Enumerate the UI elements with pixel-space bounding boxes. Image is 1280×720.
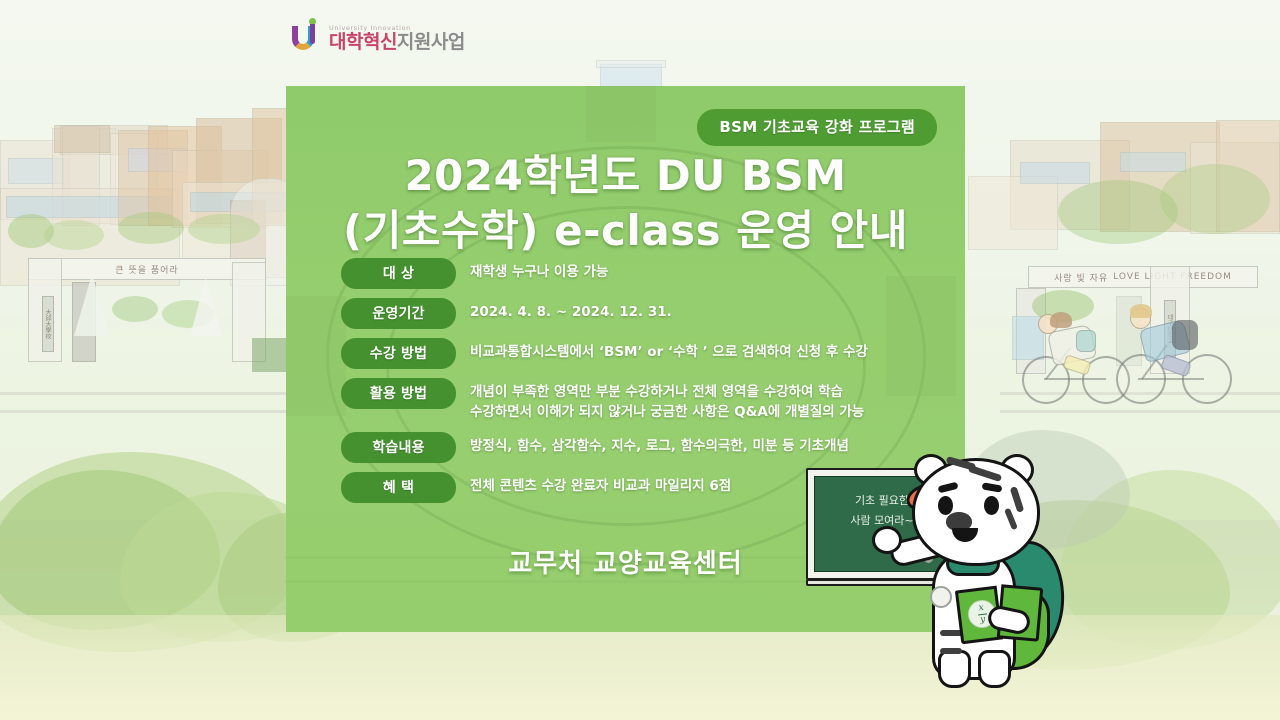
mascot-leg-right	[978, 650, 1011, 688]
info-row-label: 운영기간	[341, 298, 456, 329]
rider-backpack	[1076, 330, 1096, 352]
uj-monogram-icon	[292, 18, 322, 52]
rider-backpack	[1172, 320, 1198, 350]
logo-korean-part2: 지원사업	[397, 31, 465, 53]
building	[968, 176, 1058, 250]
road-stripe	[0, 410, 290, 413]
mascot-eye-right	[984, 496, 999, 515]
right-gate-text-kr: 사랑 빛 자유	[1054, 271, 1108, 284]
info-row-value: 비교과통합시스템에서 ‘BSM’ or ‘수학 ’ 으로 검색하여 신청 후 수…	[470, 338, 868, 362]
left-gate-beam: 큰 뜻을 품어라	[28, 258, 266, 280]
white-tiger-mascot: x y	[900, 440, 1130, 705]
info-row-value-line: 개념이 부족한 영역만 부분 수강하거나 전체 영역을 수강하여 학습	[470, 382, 864, 402]
info-row: 활용 방법 개념이 부족한 영역만 부분 수강하거나 전체 영역을 수강하여 학…	[341, 378, 955, 423]
fraction-denominator: y	[980, 614, 986, 625]
rider-hair	[1130, 304, 1152, 318]
ghost-building	[586, 86, 656, 142]
fraction-xy: x y	[976, 603, 987, 625]
building-window-band	[1120, 152, 1186, 172]
page-title: 2024학년도 DU BSM (기초수학) e-class 운영 안내	[286, 148, 965, 259]
mascot-body-stripe	[940, 648, 962, 654]
info-row: 수강 방법 비교과통합시스템에서 ‘BSM’ or ‘수학 ’ 으로 검색하여 …	[341, 338, 955, 369]
tree	[188, 214, 260, 244]
right-gate-beam: 사랑 빛 자유 LOVE LIGHT FREEDOM	[1028, 266, 1258, 288]
info-row-label: 수강 방법	[341, 338, 456, 369]
program-badge: BSM 기초교육 강화 프로그램	[697, 109, 937, 146]
info-row-value: 전체 콘텐츠 수강 완료자 비교과 마일리지 6점	[470, 472, 731, 496]
logo-korean-text: 대학혁신지원사업	[329, 33, 465, 52]
building-window-band	[1020, 162, 1090, 184]
info-row-value-line: 비교과통합시스템에서 ‘BSM’ or ‘수학 ’ 으로 검색하여 신청 후 수…	[470, 342, 868, 362]
info-row-value: 재학생 누구나 이용 가능	[470, 258, 608, 282]
title-line-2: (기초수학) e-class 운영 안내	[286, 203, 965, 258]
info-row: 학습내용 방정식, 함수, 삼각함수, 지수, 로그, 함수의극한, 미분 등 …	[341, 432, 955, 463]
title-line-1: 2024학년도 DU BSM	[404, 151, 846, 200]
logo-korean-part1: 대학혁신	[329, 31, 397, 53]
logo-wordmark: University Innovation 대학혁신지원사업	[329, 24, 465, 52]
university-innovation-logo: University Innovation 대학혁신지원사업	[292, 18, 465, 52]
info-row-value-line: 수강하면서 이해가 되지 않거나 궁금한 사항은 Q&A에 개별질의 가능	[470, 402, 864, 422]
left-pillar-plaque: 大邱大學校	[42, 296, 54, 352]
bicycle-frame	[1044, 378, 1106, 380]
info-row-value-line: 재학생 누구나 이용 가능	[470, 262, 608, 282]
tree	[118, 212, 184, 244]
shrub	[112, 296, 158, 322]
bicycle-frame	[1138, 378, 1204, 380]
info-row-label: 혜 택	[341, 472, 456, 503]
conifer-tree	[74, 274, 110, 336]
tree	[1160, 164, 1270, 234]
info-row: 운영기간 2024. 4. 8. ~ 2024. 12. 31.	[341, 298, 955, 329]
info-row: 대 상 재학생 누구나 이용 가능	[341, 258, 955, 289]
tree	[44, 220, 104, 250]
mascot-leg-left	[938, 650, 971, 688]
ghost-building	[286, 296, 346, 416]
info-row-value: 방정식, 함수, 삼각함수, 지수, 로그, 함수의극한, 미분 등 기초개념	[470, 432, 849, 456]
info-row-value: 개념이 부족한 영역만 부분 수강하거나 전체 영역을 수강하여 학습 수강하면…	[470, 378, 864, 423]
logo-j-shape	[306, 18, 317, 48]
left-gate-text: 큰 뜻을 품어라	[115, 263, 178, 276]
road-stripe	[0, 392, 290, 395]
info-row-value-line: 2024. 4. 8. ~ 2024. 12. 31.	[470, 302, 672, 322]
poster-root: 큰 뜻을 품어라 大邱大學校 사랑 빛 자유 LOVE LIGHT FREEDO…	[0, 0, 1280, 720]
mascot-eye-left	[938, 496, 953, 515]
tree	[1058, 180, 1178, 244]
cyclist-rear	[1116, 296, 1246, 411]
rider-hair	[1050, 312, 1072, 328]
fraction-numerator: x	[978, 602, 984, 613]
building-roof	[596, 60, 666, 68]
info-row-label: 활용 방법	[341, 378, 456, 409]
logo-j-stem	[310, 24, 315, 44]
building	[54, 125, 110, 153]
info-row-value-line: 전체 콘텐츠 수강 완료자 비교과 마일리지 6점	[470, 476, 731, 496]
info-row-label: 대 상	[341, 258, 456, 289]
info-row-value: 2024. 4. 8. ~ 2024. 12. 31.	[470, 298, 672, 322]
mascot-raised-paw	[872, 526, 902, 554]
conifer-tree	[190, 278, 222, 336]
info-row-label: 학습내용	[341, 432, 456, 463]
info-row-value-line: 방정식, 함수, 삼각함수, 지수, 로그, 함수의극한, 미분 등 기초개념	[470, 436, 849, 456]
mascot-medal	[930, 586, 952, 608]
